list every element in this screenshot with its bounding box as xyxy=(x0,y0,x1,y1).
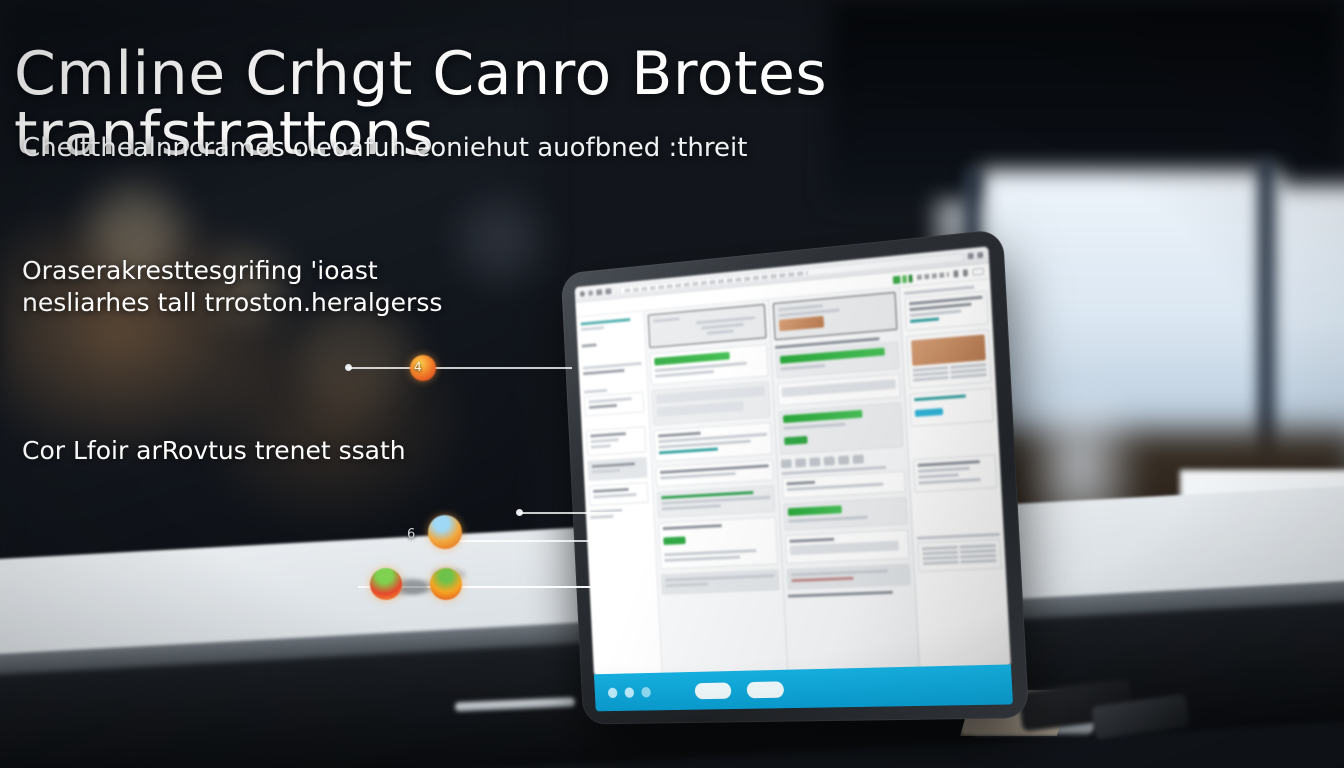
scene-root: 4 6 Cmline Crhgt Canro Brotes tranfstrat… xyxy=(0,0,1344,768)
leader-line-3 xyxy=(432,540,647,542)
sidebar-card-3[interactable] xyxy=(587,457,647,481)
content-card-a6[interactable] xyxy=(658,517,778,570)
marker-blue-orange[interactable] xyxy=(428,515,462,549)
callout-2-line-1: Cor Lfoir arRovtus trenet ssath xyxy=(22,435,492,467)
nav-label xyxy=(582,344,597,348)
brand-logo-icon xyxy=(893,274,913,284)
taskbar-pill-1[interactable] xyxy=(694,682,731,699)
sidebar-group-label xyxy=(584,389,608,394)
toolbar-icon-4[interactable] xyxy=(824,456,835,465)
highlight-bar-b3 xyxy=(788,505,843,516)
nav-heading xyxy=(581,318,631,325)
marker-1-glyph: 4 xyxy=(414,360,422,374)
content-card-b2[interactable] xyxy=(777,374,901,406)
content-card-a7[interactable] xyxy=(661,569,780,595)
window-close-icon[interactable] xyxy=(580,291,585,297)
content-column-b[interactable] xyxy=(769,287,920,671)
right-card-2[interactable] xyxy=(906,329,992,389)
marker-green-red[interactable] xyxy=(370,568,402,600)
callout-1-line-2: nesliarhes tall trroston.heralgerss xyxy=(22,287,522,319)
tablet-monitor[interactable] xyxy=(561,229,1029,725)
page-body xyxy=(576,279,1011,676)
content-panel-header-a[interactable] xyxy=(648,304,767,348)
forward-icon[interactable] xyxy=(605,288,611,294)
taskbar-app-dots[interactable] xyxy=(608,687,651,698)
leader-line-2 xyxy=(519,512,639,514)
right-rail-column[interactable] xyxy=(900,279,1011,668)
content-card-a4[interactable] xyxy=(655,459,773,487)
marker-green-orange[interactable] xyxy=(430,568,462,600)
toolbar-icon-5[interactable] xyxy=(838,455,849,464)
toolbar-icon-1[interactable] xyxy=(781,459,792,468)
device-screen[interactable] xyxy=(575,246,1011,676)
callout-1-line-1: Oraserakresttesgrifing 'ioast xyxy=(22,255,522,287)
window-minimize-icon[interactable] xyxy=(588,290,593,296)
icon-toolbar-b[interactable] xyxy=(781,452,905,468)
search-icon[interactable] xyxy=(641,687,651,697)
right-card-5[interactable] xyxy=(917,539,1002,572)
content-card-b4[interactable] xyxy=(782,471,906,499)
leader-line-1 xyxy=(348,367,572,369)
content-card-a5[interactable] xyxy=(657,485,776,518)
taskbar-pills[interactable] xyxy=(694,681,784,699)
leader-line-5 xyxy=(440,586,652,588)
marker-2-glyph: 6 xyxy=(407,527,415,542)
callout-1: Oraserakresttesgrifing 'ioast nesliarhes… xyxy=(22,255,522,319)
toolbar-icon-3[interactable] xyxy=(809,457,820,466)
content-card-b6[interactable] xyxy=(785,529,910,564)
right-card-chip xyxy=(915,408,943,417)
app-dot-2-icon[interactable] xyxy=(624,687,634,697)
sidebar-card-2[interactable] xyxy=(586,426,646,456)
content-card-b3[interactable] xyxy=(778,402,903,455)
chrome-actions[interactable] xyxy=(968,252,984,259)
highlight-bar-b2 xyxy=(783,410,863,423)
account-icon[interactable] xyxy=(963,269,968,276)
content-card-b5[interactable] xyxy=(783,497,908,531)
right-card-4[interactable] xyxy=(913,454,998,492)
toolbar-icon-2[interactable] xyxy=(795,458,806,467)
marker-shadow xyxy=(398,580,428,594)
callout-2: Cor Lfoir arRovtus trenet ssath xyxy=(22,435,492,467)
app-header-title xyxy=(917,272,949,280)
notification-icon[interactable] xyxy=(953,270,958,277)
device-bezel xyxy=(561,229,1029,725)
right-mini-table xyxy=(913,363,987,383)
grid-icon[interactable] xyxy=(972,268,984,276)
footer-note-b xyxy=(788,591,893,598)
menu-icon[interactable] xyxy=(977,252,983,258)
bookmark-icon[interactable] xyxy=(968,253,974,259)
status-chip-a xyxy=(663,536,685,545)
sidebar-card-1[interactable] xyxy=(584,392,644,417)
content-card-a1[interactable] xyxy=(650,344,769,386)
page-subtitle: Cheltthealnncrames oleoafuh eoniehut auo… xyxy=(22,133,922,163)
content-column-a[interactable] xyxy=(644,300,788,675)
right-card-1[interactable] xyxy=(904,290,989,331)
right-card-3[interactable] xyxy=(909,388,994,427)
back-icon[interactable] xyxy=(596,289,602,295)
right-card-thumbnail xyxy=(911,334,986,366)
app-dot-1-icon[interactable] xyxy=(608,687,618,697)
taskbar-pill-2[interactable] xyxy=(746,681,784,698)
content-card-a2[interactable] xyxy=(652,381,771,426)
nav-subheading xyxy=(581,326,605,331)
sidebar-card-4[interactable] xyxy=(589,482,649,506)
content-card-b7[interactable] xyxy=(786,564,911,590)
toolbar-icon-6[interactable] xyxy=(853,455,864,464)
content-panel-header-b[interactable] xyxy=(773,292,898,341)
highlight-bar-b1 xyxy=(780,348,885,364)
content-columns xyxy=(644,287,920,674)
status-chip-b xyxy=(784,436,808,445)
content-card-a3[interactable] xyxy=(654,422,773,462)
